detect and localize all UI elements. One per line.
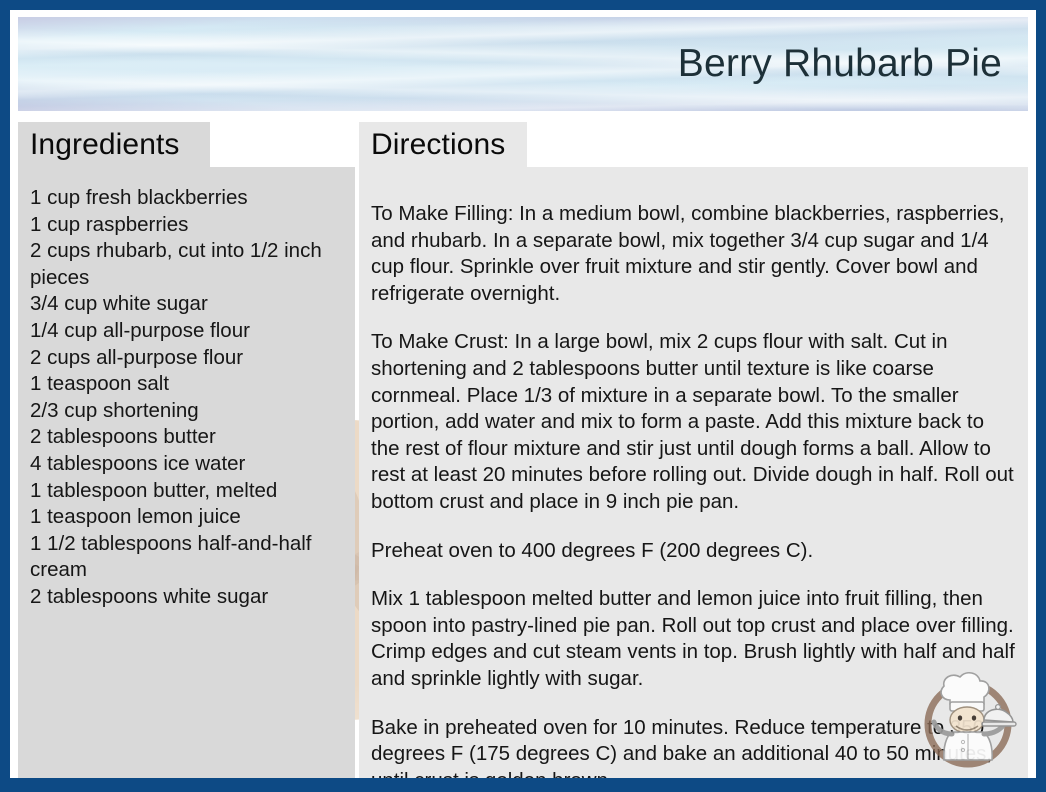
ingredients-header-notch [210,122,355,167]
direction-paragraph: Mix 1 tablespoon melted butter and lemon… [371,586,1018,692]
direction-paragraph: To Make Crust: In a large bowl, mix 2 cu… [371,329,1018,515]
ingredient-item: 1 cup raspberries [30,212,345,239]
ingredient-item: 4 tablespoons ice water [30,451,345,478]
ingredient-item: 1 1/2 tablespoons half-and-half cream [30,531,345,584]
ingredients-header: Ingredients [18,122,194,167]
directions-body-wrap: To Make Filling: In a medium bowl, combi… [359,167,1028,778]
recipe-card: Berry Rhubarb Pie Ingredients 1 cup fres… [0,0,1046,792]
directions-heading: Directions [371,128,505,162]
ingredients-body: 1 cup fresh blackberries 1 cup raspberri… [18,167,355,778]
ingredient-item: 2 cups all-purpose flour [30,345,345,372]
ingredient-item: 1 tablespoon butter, melted [30,478,345,505]
ingredients-panel: Ingredients 1 cup fresh blackberries 1 c… [18,122,355,778]
recipe-title: Berry Rhubarb Pie [678,42,1002,86]
card-inner: Berry Rhubarb Pie Ingredients 1 cup fres… [10,10,1036,778]
ingredient-item: 1 teaspoon lemon juice [30,504,345,531]
ingredient-list: 1 cup fresh blackberries 1 cup raspberri… [30,185,345,611]
direction-paragraph: Bake in preheated oven for 10 minutes. R… [371,715,1018,779]
directions-body: To Make Filling: In a medium bowl, combi… [371,185,1018,778]
direction-paragraph: To Make Filling: In a medium bowl, combi… [371,201,1018,307]
directions-header-notch [527,122,1028,167]
ingredient-item: 1 cup fresh blackberries [30,185,345,212]
direction-paragraph: Preheat oven to 400 degrees F (200 degre… [371,538,1018,565]
ingredient-item: 2 tablespoons white sugar [30,584,345,611]
title-banner: Berry Rhubarb Pie [18,17,1028,111]
ingredient-item: 2/3 cup shortening [30,398,345,425]
directions-panel: Directions To Make Filling: In a medium … [359,122,1028,778]
ingredient-item: 2 tablespoons butter [30,424,345,451]
ingredient-item: 2 cups rhubarb, cut into 1/2 inch pieces [30,238,345,291]
directions-header: Directions [359,122,519,167]
ingredients-heading: Ingredients [30,128,180,162]
ingredient-item: 1 teaspoon salt [30,371,345,398]
ingredient-item: 1/4 cup all-purpose flour [30,318,345,345]
ingredient-item: 3/4 cup white sugar [30,291,345,318]
